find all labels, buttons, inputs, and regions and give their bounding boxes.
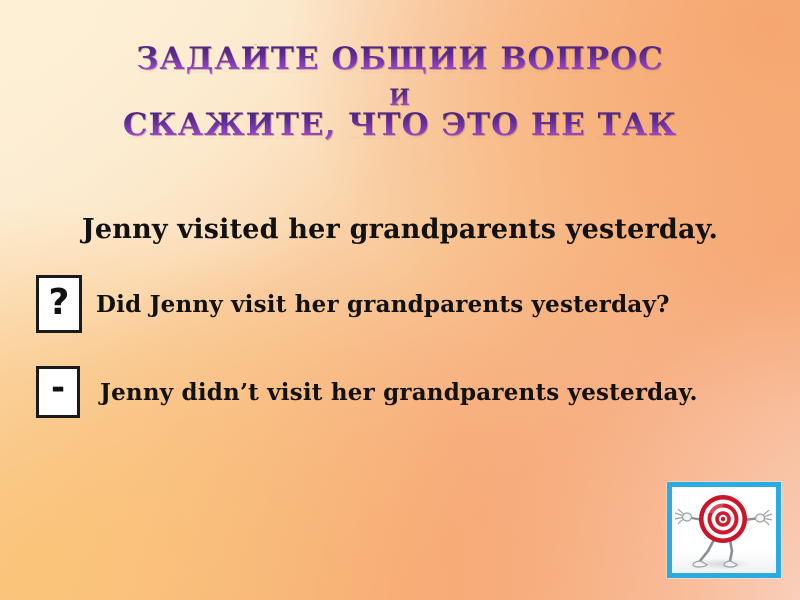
title-line-1: ЗАДАЙТЕ ОБЩИЙ ВОПРОС [0,44,800,75]
negative-row: - Jenny didn’t visit her grandparents ye… [36,366,698,418]
title-line-2: И [0,87,800,109]
question-row: ? Did Jenny visit her grandparents yeste… [36,275,670,333]
minus-sign-box: - [36,366,80,418]
bullseye-target-icon [672,487,776,573]
target-illustration-frame [667,482,781,578]
slide-title: ЗАДАЙТЕ ОБЩИЙ ВОПРОС ЗАДАЙТЕ ОБЩИЙ ВОПРО… [0,44,800,151]
negative-sentence: Jenny didn’t visit her grandparents yest… [100,379,698,406]
affirmative-statement: Jenny visited her grandparents yesterday… [0,214,800,245]
title-line-3: СКАЖИТЕ, ЧТО ЭТО НЕ ТАК [0,110,800,141]
question-mark-box: ? [36,275,82,333]
question-sentence: Did Jenny visit her grandparents yesterd… [96,291,670,318]
slide-canvas: ЗАДАЙТЕ ОБЩИЙ ВОПРОС ЗАДАЙТЕ ОБЩИЙ ВОПРО… [0,0,800,600]
target-illustration [672,487,776,573]
